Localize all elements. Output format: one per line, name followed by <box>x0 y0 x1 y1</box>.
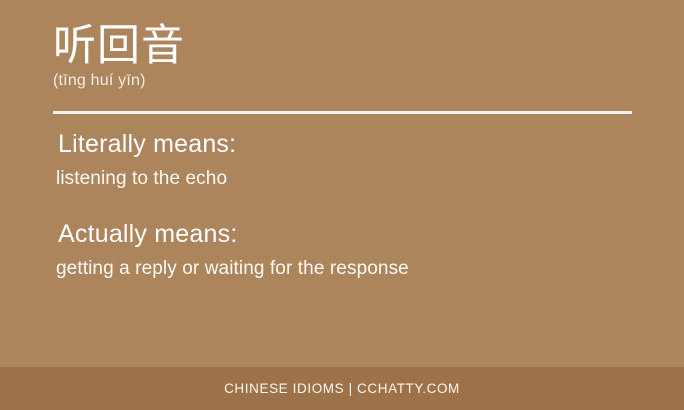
actual-meaning-section: Actually means: getting a reply or waiti… <box>56 219 656 282</box>
card-header: 听回音 (tīng huí yīn) <box>53 24 633 90</box>
header-divider-line <box>53 111 632 114</box>
literal-meaning-section: Literally means: listening to the echo <box>56 129 656 192</box>
literal-meaning-heading: Literally means: <box>56 129 656 160</box>
idiom-pinyin: (tīng huí yīn) <box>53 71 633 90</box>
actual-meaning-text: getting a reply or waiting for the respo… <box>56 257 656 282</box>
actual-meaning-heading: Actually means: <box>56 219 656 250</box>
idiom-card: 听回音 (tīng huí yīn) Literally means: list… <box>0 0 684 410</box>
footer-bar: CHINESE IDIOMS | CCHATTY.COM <box>0 367 684 410</box>
footer-branding-text: CHINESE IDIOMS | CCHATTY.COM <box>224 381 460 396</box>
idiom-hanzi-title: 听回音 <box>53 24 633 69</box>
literal-meaning-text: listening to the echo <box>56 167 656 192</box>
